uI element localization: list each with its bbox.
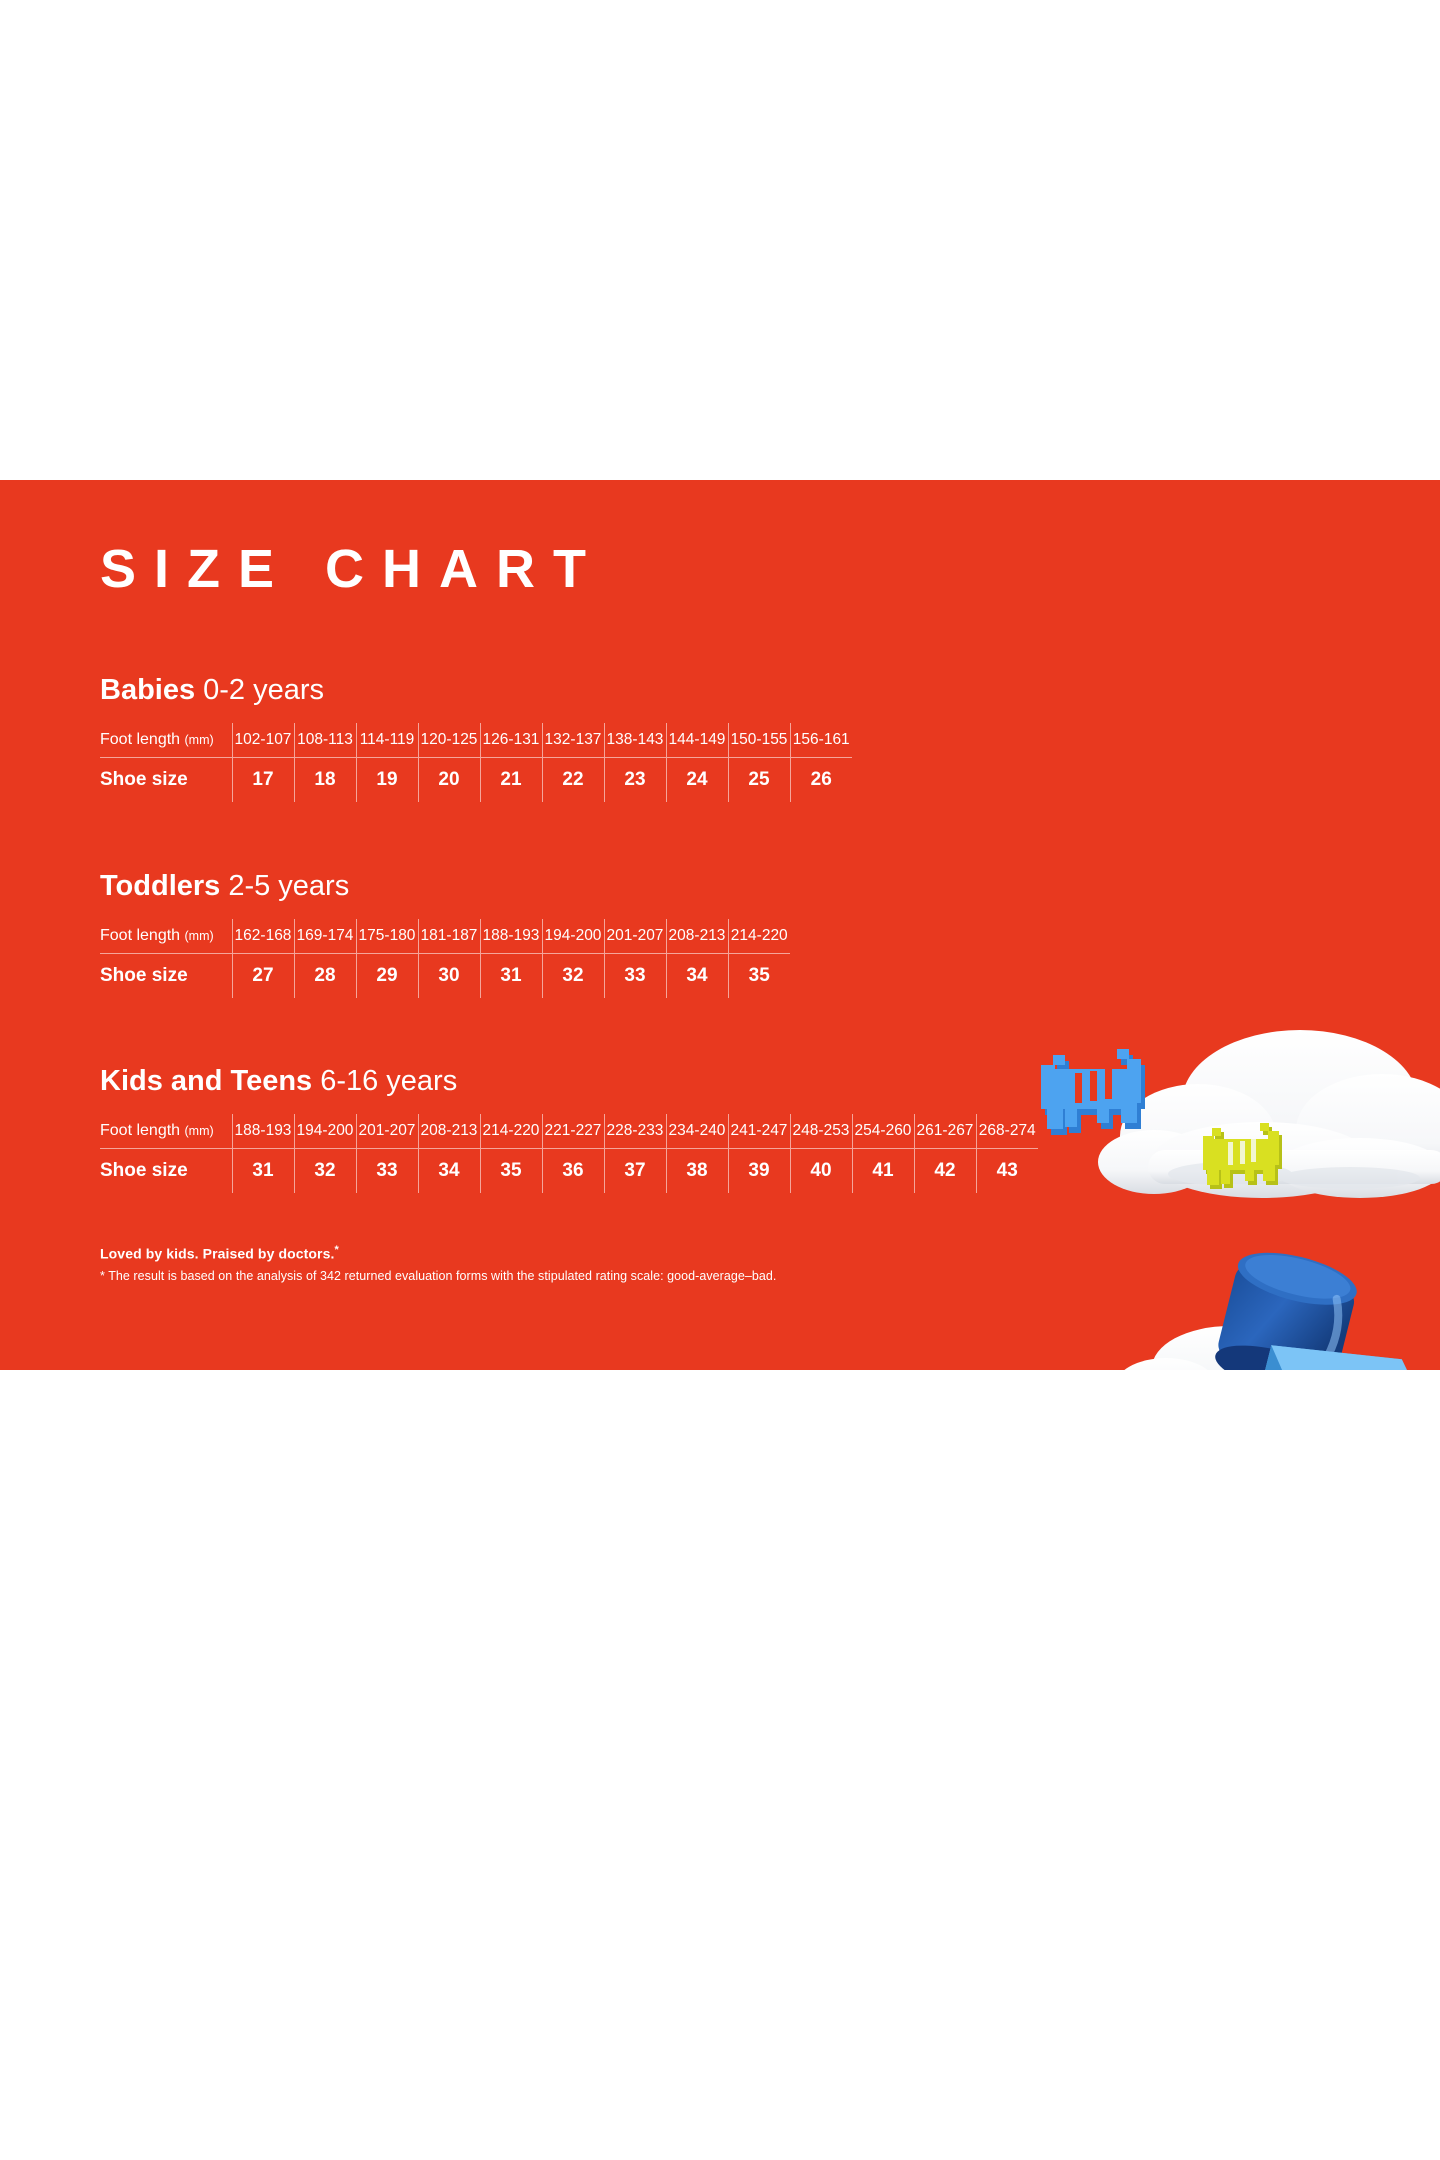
cell-foot-length: 208-213: [666, 919, 728, 954]
section-kids-and-teens: Kids and Teens6-16 years Foot length (mm…: [100, 1065, 1038, 1193]
cell-foot-length: 214-220: [728, 919, 790, 954]
size-table-toddlers: Foot length (mm) 162-168 169-174 175-180…: [100, 919, 790, 998]
cell-shoe-size: 36: [542, 1149, 604, 1194]
cell-foot-length: 132-137: [542, 723, 604, 758]
cell-shoe-size: 31: [232, 1149, 294, 1194]
table-row-foot-length: Foot length (mm) 162-168 169-174 175-180…: [100, 919, 790, 954]
cell-foot-length: 201-207: [604, 919, 666, 954]
row-label-unit: (mm): [185, 733, 214, 747]
footnote-marker: *: [334, 1244, 338, 1256]
section-group-label: Babies: [100, 674, 195, 706]
cell-foot-length: 114-119: [356, 723, 418, 758]
cell-shoe-size: 32: [294, 1149, 356, 1194]
size-chart-page: SIZE CHART Babies0-2 years Foot length (…: [0, 0, 1440, 2160]
row-label-text: Foot length: [100, 1122, 180, 1139]
cell-shoe-size: 28: [294, 954, 356, 999]
cell-shoe-size: 38: [666, 1149, 728, 1194]
cell-shoe-size: 23: [604, 758, 666, 803]
row-label-shoe-size: Shoe size: [100, 1149, 232, 1194]
cell-shoe-size: 26: [790, 758, 852, 803]
cell-foot-length: 188-193: [232, 1114, 294, 1149]
cell-shoe-size: 35: [728, 954, 790, 999]
cell-foot-length: 102-107: [232, 723, 294, 758]
table-row-shoe-size: Shoe size 31 32 33 34 35 36 37 38 39 40 …: [100, 1149, 1038, 1194]
cell-shoe-size: 43: [976, 1149, 1038, 1194]
cell-shoe-size: 37: [604, 1149, 666, 1194]
footer-tagline: Loved by kids. Praised by doctors.*: [100, 1244, 1100, 1262]
size-table-kids-and-teens: Foot length (mm) 188-193 194-200 201-207…: [100, 1114, 1038, 1193]
cell-shoe-size: 27: [232, 954, 294, 999]
cell-shoe-size: 39: [728, 1149, 790, 1194]
cell-foot-length: 254-260: [852, 1114, 914, 1149]
row-label-unit: (mm): [185, 929, 214, 943]
cell-shoe-size: 29: [356, 954, 418, 999]
cell-foot-length: 156-161: [790, 723, 852, 758]
cell-shoe-size: 35: [480, 1149, 542, 1194]
section-babies: Babies0-2 years Foot length (mm) 102-107…: [100, 674, 852, 802]
panel-content: SIZE CHART Babies0-2 years Foot length (…: [100, 480, 1360, 1370]
cell-shoe-size: 25: [728, 758, 790, 803]
cell-foot-length: 144-149: [666, 723, 728, 758]
section-group-label: Kids and Teens: [100, 1065, 312, 1097]
cell-foot-length: 188-193: [480, 919, 542, 954]
cell-foot-length: 241-247: [728, 1114, 790, 1149]
section-age-label: 2-5 years: [228, 870, 349, 902]
cell-foot-length: 138-143: [604, 723, 666, 758]
cell-foot-length: 261-267: [914, 1114, 976, 1149]
cell-shoe-size: 34: [666, 954, 728, 999]
cell-shoe-size: 34: [418, 1149, 480, 1194]
cell-shoe-size: 33: [604, 954, 666, 999]
cell-foot-length: 120-125: [418, 723, 480, 758]
cell-shoe-size: 41: [852, 1149, 914, 1194]
page-title: SIZE CHART: [100, 542, 604, 596]
cell-shoe-size: 30: [418, 954, 480, 999]
section-heading-toddlers: Toddlers2-5 years: [100, 870, 790, 903]
cell-foot-length: 194-200: [542, 919, 604, 954]
cell-foot-length: 214-220: [480, 1114, 542, 1149]
size-table-babies: Foot length (mm) 102-107 108-113 114-119…: [100, 723, 852, 802]
cell-foot-length: 194-200: [294, 1114, 356, 1149]
row-label-foot-length: Foot length (mm): [100, 919, 232, 954]
cell-shoe-size: 33: [356, 1149, 418, 1194]
cell-shoe-size: 42: [914, 1149, 976, 1194]
cell-shoe-size: 32: [542, 954, 604, 999]
cell-foot-length: 169-174: [294, 919, 356, 954]
row-label-foot-length: Foot length (mm): [100, 723, 232, 758]
row-label-shoe-size: Shoe size: [100, 758, 232, 803]
table-row-foot-length: Foot length (mm) 102-107 108-113 114-119…: [100, 723, 852, 758]
section-age-label: 6-16 years: [320, 1065, 457, 1097]
cell-foot-length: 162-168: [232, 919, 294, 954]
section-group-label: Toddlers: [100, 870, 220, 902]
cell-shoe-size: 31: [480, 954, 542, 999]
section-age-label: 0-2 years: [203, 674, 324, 706]
footer-disclaimer: * The result is based on the analysis of…: [100, 1269, 1100, 1283]
section-toddlers: Toddlers2-5 years Foot length (mm) 162-1…: [100, 870, 790, 998]
cell-foot-length: 221-227: [542, 1114, 604, 1149]
cell-foot-length: 126-131: [480, 723, 542, 758]
cell-shoe-size: 17: [232, 758, 294, 803]
cell-foot-length: 234-240: [666, 1114, 728, 1149]
section-heading-kids-and-teens: Kids and Teens6-16 years: [100, 1065, 1038, 1098]
cell-foot-length: 208-213: [418, 1114, 480, 1149]
row-label-text: Foot length: [100, 731, 180, 748]
row-label-shoe-size: Shoe size: [100, 954, 232, 999]
section-heading-babies: Babies0-2 years: [100, 674, 852, 707]
cell-foot-length: 150-155: [728, 723, 790, 758]
cell-shoe-size: 18: [294, 758, 356, 803]
table-row-shoe-size: Shoe size 27 28 29 30 31 32 33 34 35: [100, 954, 790, 999]
footer-tagline-text: Loved by kids. Praised by doctors.: [100, 1246, 334, 1262]
row-label-text: Foot length: [100, 927, 180, 944]
cell-foot-length: 181-187: [418, 919, 480, 954]
table-row-foot-length: Foot length (mm) 188-193 194-200 201-207…: [100, 1114, 1038, 1149]
cell-shoe-size: 24: [666, 758, 728, 803]
cell-foot-length: 108-113: [294, 723, 356, 758]
cell-foot-length: 248-253: [790, 1114, 852, 1149]
row-label-unit: (mm): [185, 1124, 214, 1138]
table-row-shoe-size: Shoe size 17 18 19 20 21 22 23 24 25 26: [100, 758, 852, 803]
cell-foot-length: 268-274: [976, 1114, 1038, 1149]
cell-foot-length: 175-180: [356, 919, 418, 954]
cell-foot-length: 201-207: [356, 1114, 418, 1149]
cell-shoe-size: 40: [790, 1149, 852, 1194]
cell-foot-length: 228-233: [604, 1114, 666, 1149]
cell-shoe-size: 19: [356, 758, 418, 803]
cell-shoe-size: 20: [418, 758, 480, 803]
size-chart-panel: SIZE CHART Babies0-2 years Foot length (…: [0, 480, 1440, 1370]
cell-shoe-size: 22: [542, 758, 604, 803]
row-label-foot-length: Foot length (mm): [100, 1114, 232, 1149]
footer: Loved by kids. Praised by doctors.* * Th…: [100, 1244, 1100, 1283]
cell-shoe-size: 21: [480, 758, 542, 803]
